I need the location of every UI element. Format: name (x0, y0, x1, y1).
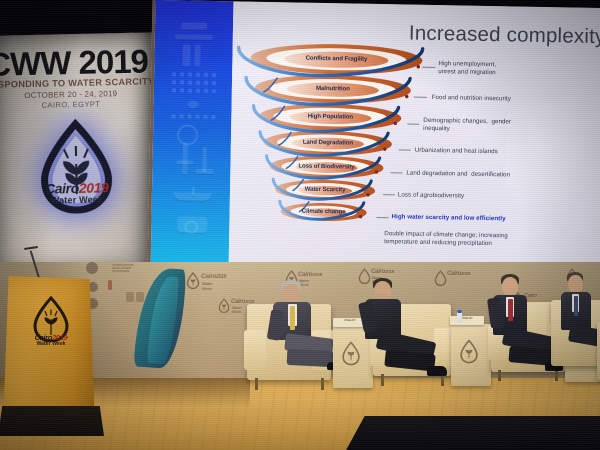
slide-surface: Increased complexity (148, 0, 600, 276)
water-droplet-icon (459, 338, 479, 366)
sponsor-caption: UNITED NATIONS DEVELOPMENT PROGRAMME (112, 264, 134, 274)
conference-photo: CWW 2019 RESPONDING TO WATER SCARCITY OC… (0, 0, 600, 450)
backdrop-logo: Cairo2019 Water Week (186, 272, 200, 295)
projection-screen: Increased complexity (148, 0, 600, 276)
sponsor-logo-strip: UNITED NATIONS DEVELOPMENT PROGRAMME (86, 262, 144, 314)
podium-logo: Cairo2019 Water Week (23, 296, 79, 362)
panel-seating-area: PANELIST PANELIST (245, 268, 600, 408)
panelist (355, 278, 445, 390)
consequence-item: Double impact of climate change; increas… (384, 230, 508, 249)
backdrop-logo: Cairo2019 Water Week (218, 298, 230, 319)
slide-content: Increased complexity (229, 1, 600, 273)
panelist-head (282, 284, 300, 304)
event-banner: CWW 2019 RESPONDING TO WATER SCARCITY OC… (0, 32, 162, 275)
stage-monitor (344, 416, 600, 450)
cone-label: Water Scarcity (284, 185, 366, 194)
table-logo (459, 338, 479, 371)
podium-base (0, 406, 104, 436)
water-droplet-icon (186, 272, 200, 290)
consequence-item: Urbanization and heat islands (415, 147, 498, 157)
podium-logo-subwordmark: Water Week (23, 341, 79, 347)
panelist-leg (568, 324, 600, 348)
cone-label: Climate change (284, 207, 364, 215)
panelist (557, 272, 600, 376)
consequence-item: High unemployment, unrest and migration (438, 60, 496, 77)
panelist-head (568, 275, 583, 293)
slide-watermark (504, 102, 598, 224)
banner-shading (0, 32, 162, 275)
panelist-head (502, 277, 518, 296)
water-bottle (457, 310, 462, 323)
water-droplet-icon (218, 298, 230, 314)
speaker-podium: Cairo2019 Water Week (3, 276, 95, 428)
consequence-item: Loss of agrobiodiversity (398, 191, 464, 200)
consequence-item: Food and nutrition insecurity (432, 94, 511, 104)
panelist (271, 280, 341, 384)
hieroglyph-panel-decoration (151, 0, 234, 266)
consequence-item: Demographic changes, gender inequality (423, 117, 511, 135)
